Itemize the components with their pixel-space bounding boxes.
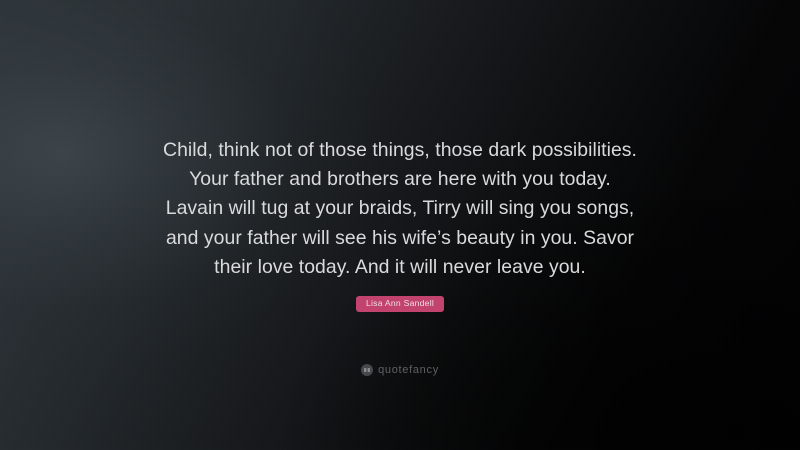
- quotefancy-watermark[interactable]: quotefancy: [0, 364, 800, 376]
- author-name-badge[interactable]: Lisa Ann Sandell: [356, 296, 444, 312]
- quote-line-3: Lavain will tug at your braids, Tirry wi…: [80, 194, 720, 223]
- quote-line-2: Your father and brothers are here with y…: [80, 165, 720, 194]
- wallpaper-content: Child, think not of those things, those …: [0, 0, 800, 450]
- quote-mark-circle-icon: [361, 364, 373, 376]
- quote-line-1: Child, think not of those things, those …: [80, 136, 720, 165]
- quote-line-5: their love today. And it will never leav…: [80, 253, 720, 282]
- quote-line-4: and your father will see his wife’s beau…: [80, 224, 720, 253]
- quotefancy-brand-label: quotefancy: [378, 364, 439, 376]
- quote-wallpaper: Child, think not of those things, those …: [0, 0, 800, 450]
- quote-body: Child, think not of those things, those …: [80, 136, 720, 282]
